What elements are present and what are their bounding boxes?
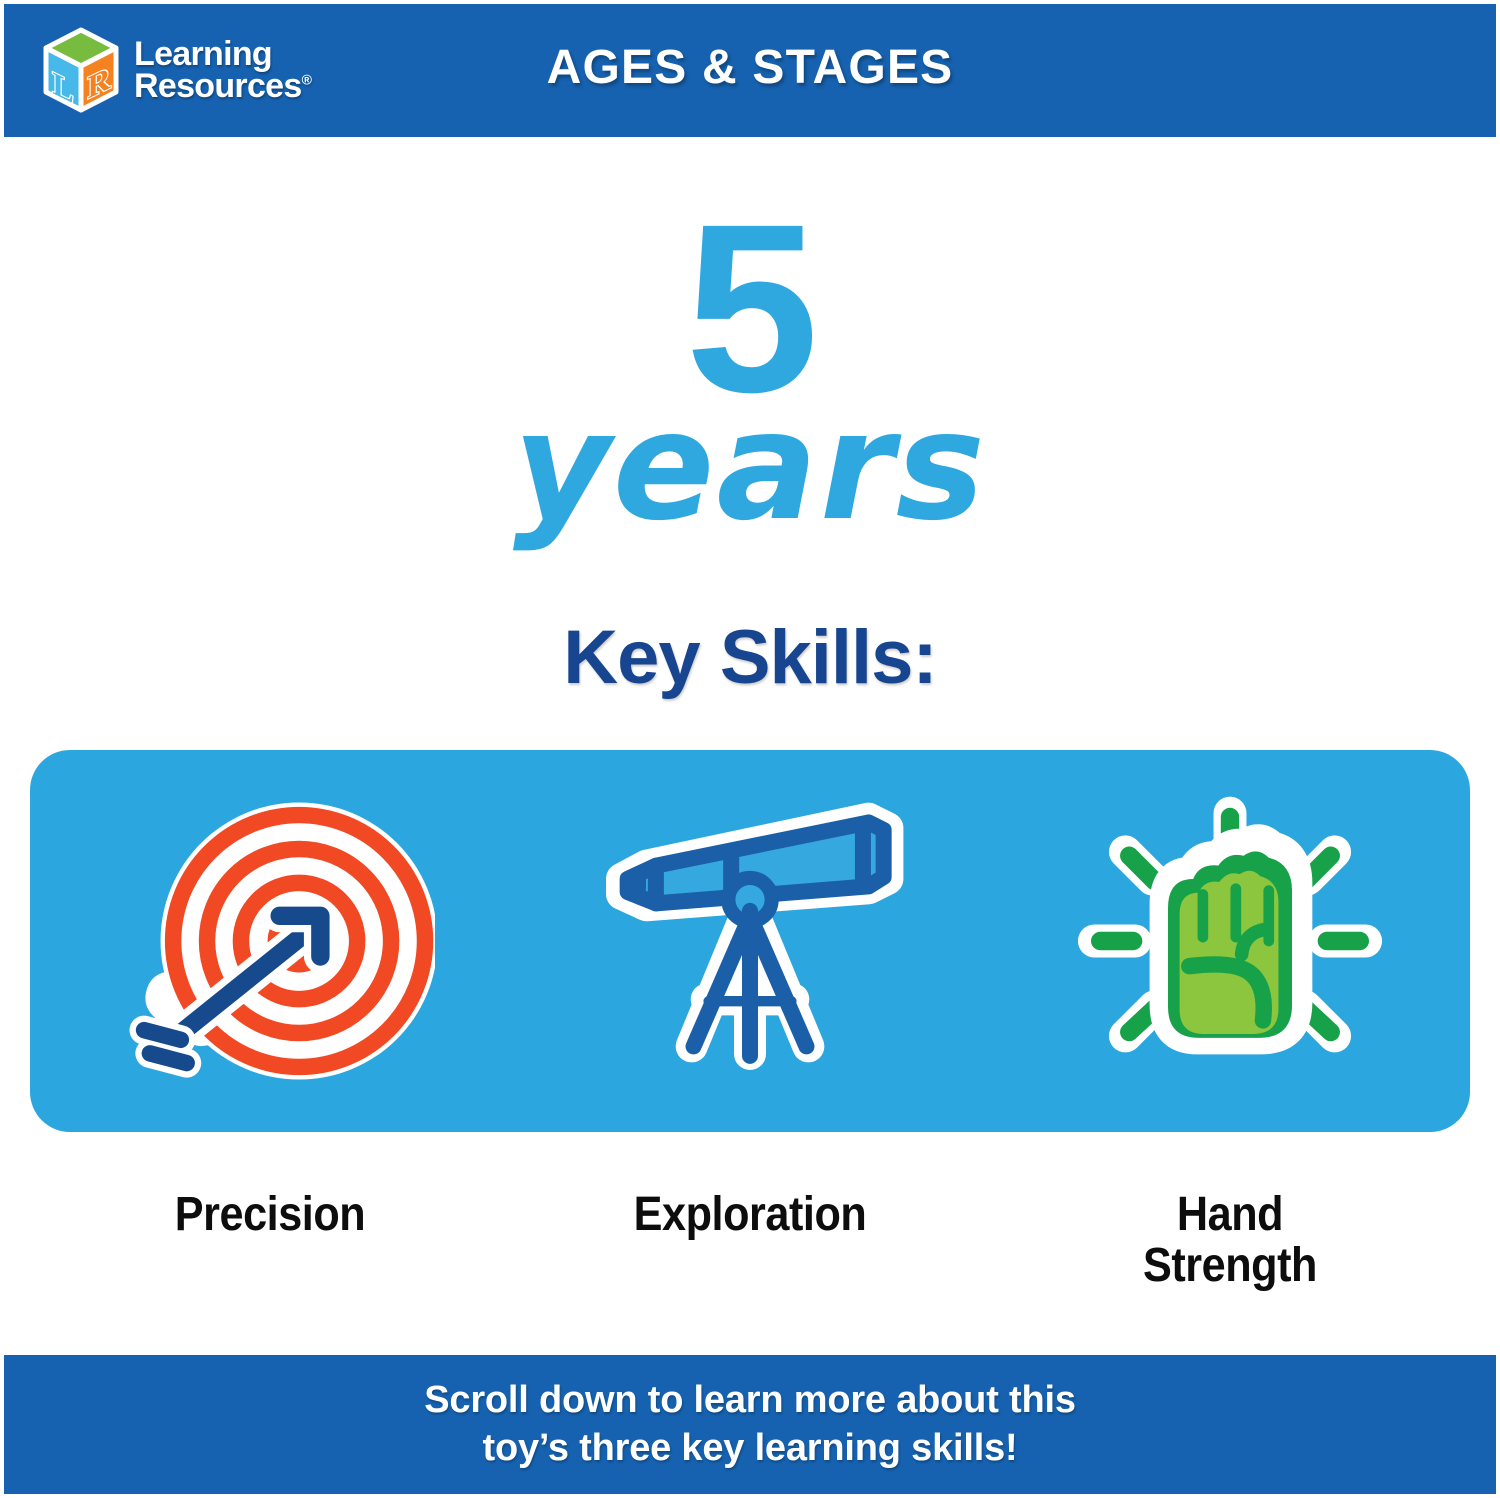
footer-message: Scroll down to learn more about this toy… <box>384 1377 1116 1473</box>
footer-bar: Scroll down to learn more about this toy… <box>4 1355 1496 1494</box>
skill-icon-slot-hand-strength <box>1040 776 1420 1106</box>
footer-message-line2: toy’s three key learning skills! <box>424 1425 1076 1473</box>
skill-label-precision: Precision <box>99 1190 441 1241</box>
age-unit-label: years <box>0 392 1500 542</box>
brand-wordmark-line2: Resources® <box>134 71 311 102</box>
target-arrow-icon <box>105 786 435 1096</box>
registered-trademark-symbol: ® <box>302 71 312 87</box>
header-bar: AGES & STAGES L R Learning Reso <box>4 4 1496 137</box>
footer-message-line1: Scroll down to learn more about this <box>424 1377 1076 1425</box>
key-skills-heading: Key Skills: <box>0 620 1500 696</box>
skill-icon-slot-exploration <box>560 776 940 1106</box>
skill-label-hand-strength-line1: Hand <box>1059 1190 1401 1241</box>
skill-label-hand-strength-line2: Strength <box>1059 1241 1401 1292</box>
skill-labels-row: Precision Exploration Hand Strength <box>30 1190 1470 1340</box>
ages-and-stages-infographic: AGES & STAGES L R Learning Reso <box>0 0 1500 1498</box>
skill-label-hand-strength: Hand Strength <box>1059 1190 1401 1292</box>
brand-wordmark: Learning Resources® <box>134 39 311 102</box>
skill-label-exploration: Exploration <box>579 1190 921 1241</box>
telescope-icon <box>590 796 910 1086</box>
skill-icon-slot-precision <box>80 776 460 1106</box>
fist-strength-icon <box>1075 791 1385 1091</box>
brand-logo: L R Learning Resources® <box>40 18 340 123</box>
key-skills-panel <box>30 750 1470 1132</box>
learning-resources-cube-icon: L R <box>40 26 122 116</box>
